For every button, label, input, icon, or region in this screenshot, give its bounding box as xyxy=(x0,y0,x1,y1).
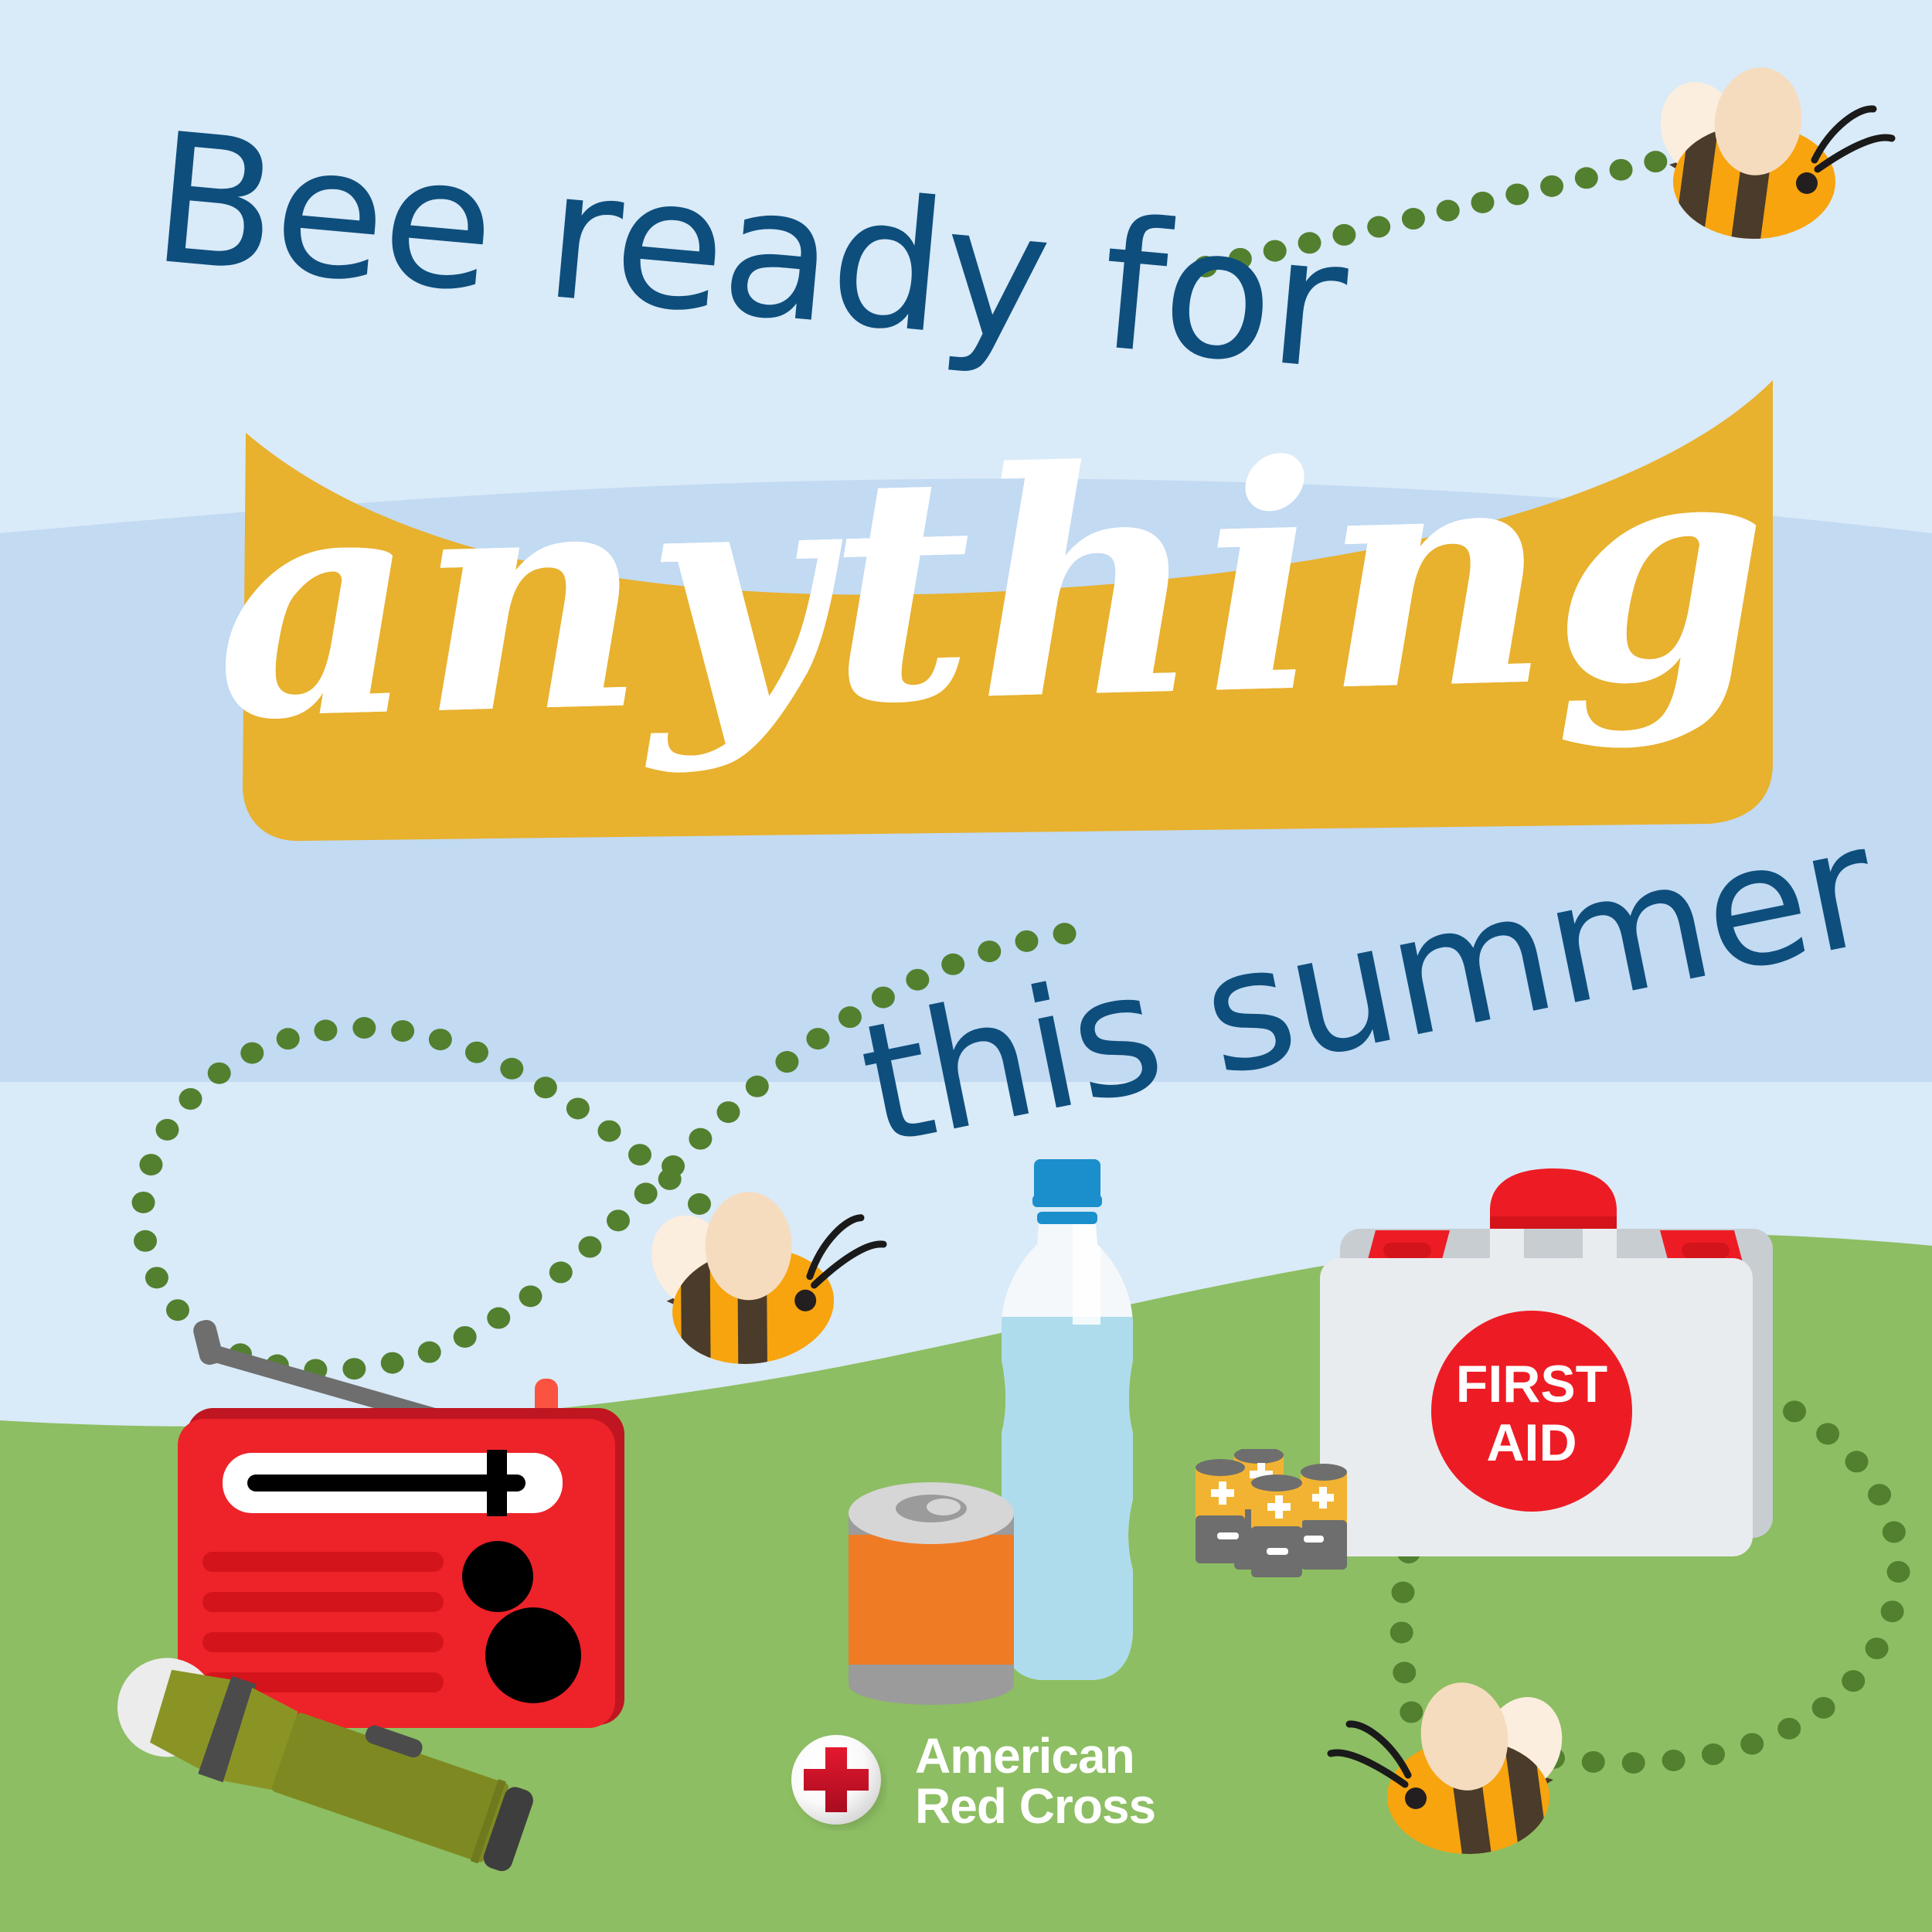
trail-dot xyxy=(607,1209,630,1231)
poster-canvas: Bee ready for anything this summer xyxy=(0,0,1932,1932)
trail-dot xyxy=(277,1028,300,1049)
trail-dot xyxy=(1702,1743,1725,1765)
red-cross-emblem xyxy=(788,1732,887,1831)
trail-dot xyxy=(597,1121,621,1142)
trail-dot xyxy=(1437,200,1460,222)
bottle-cap xyxy=(1032,1159,1102,1224)
trail-dot xyxy=(1777,1718,1801,1740)
bee-top-right xyxy=(1654,35,1917,267)
trail-dot xyxy=(1053,923,1077,944)
trail-dot xyxy=(806,1028,829,1049)
logo-line-2: Red Cross xyxy=(915,1781,1155,1832)
trail-dot xyxy=(429,1029,452,1050)
trail-dot xyxy=(1868,1484,1891,1505)
logo-wordmark: American Red Cross xyxy=(915,1731,1155,1832)
trail-dot xyxy=(1540,175,1563,197)
battery-front xyxy=(1251,1475,1302,1577)
bottle-highlight xyxy=(1073,1224,1100,1325)
trail-dot xyxy=(1622,1752,1645,1774)
trail-dot xyxy=(775,1051,798,1073)
trail-dot xyxy=(155,1119,179,1141)
flashlight xyxy=(93,1650,587,1905)
trail-dot xyxy=(1842,1670,1865,1692)
trail-dot xyxy=(1812,1697,1835,1719)
trail-dot xyxy=(240,1043,264,1064)
trail-dot xyxy=(1367,216,1390,238)
bee-wing-front xyxy=(706,1192,792,1300)
trail-dot xyxy=(132,1192,155,1213)
trail-dot xyxy=(534,1077,557,1098)
bee-eye xyxy=(1796,172,1818,194)
trail-dot xyxy=(628,1144,651,1165)
trail-dot xyxy=(1883,1521,1906,1543)
trail-dot xyxy=(1881,1600,1904,1622)
bee-middle xyxy=(649,1155,912,1387)
logo-line-1: American xyxy=(915,1731,1155,1781)
radio-knob-small xyxy=(462,1541,533,1612)
batteries xyxy=(1186,1449,1395,1650)
trail-dot xyxy=(139,1154,162,1175)
trail-dot xyxy=(1845,1451,1869,1472)
battery-left xyxy=(1196,1459,1245,1563)
trail-dot xyxy=(1015,930,1039,952)
bee-bottom-right xyxy=(1306,1650,1569,1882)
kit-latch-left-clip xyxy=(1383,1243,1431,1258)
trail-dot xyxy=(689,1128,712,1150)
trail-dot xyxy=(978,940,1001,962)
trail-dot xyxy=(134,1230,157,1252)
trail-dot xyxy=(519,1285,543,1307)
trail-dot xyxy=(1887,1561,1910,1583)
trail-dot xyxy=(1575,167,1598,189)
trail-dot xyxy=(1610,159,1633,181)
can-base xyxy=(849,1665,1014,1705)
trail-dot xyxy=(566,1097,590,1119)
trail-dot xyxy=(1505,183,1529,205)
trail-dot xyxy=(1471,192,1495,213)
trail-dot xyxy=(1402,208,1425,230)
trail-dot xyxy=(391,1020,414,1042)
trail-dot xyxy=(1816,1423,1839,1444)
trail-dot xyxy=(1582,1751,1605,1773)
highlight-banner: anything xyxy=(193,340,1793,842)
trail-dot xyxy=(746,1076,769,1097)
can-pulltab-hole xyxy=(927,1498,961,1515)
trail-dot xyxy=(145,1267,168,1288)
kit-badge-line-2: AID xyxy=(1486,1413,1577,1472)
trail-dot xyxy=(465,1042,488,1063)
trail-dot xyxy=(179,1088,202,1110)
battery-right xyxy=(1301,1464,1347,1570)
kit-badge-line-1: FIRST xyxy=(1456,1355,1607,1413)
trail-dot xyxy=(716,1101,740,1123)
banner-word: anything xyxy=(187,319,1799,863)
can-label xyxy=(849,1535,1014,1665)
trail-dot xyxy=(549,1261,573,1283)
trail-dot xyxy=(1662,1750,1685,1771)
trail-dot xyxy=(314,1019,337,1041)
kit-latch-right-clip xyxy=(1682,1243,1730,1258)
bee-antennae xyxy=(1331,1724,1408,1784)
trail-dot xyxy=(1740,1733,1764,1755)
radio-tuning-scale xyxy=(247,1475,526,1492)
trail-dot xyxy=(500,1058,523,1080)
bee-eye xyxy=(1405,1787,1427,1809)
trail-dot xyxy=(208,1063,231,1084)
trail-dot xyxy=(578,1236,601,1258)
canned-food xyxy=(835,1461,1028,1723)
radio-tuning-needle xyxy=(487,1450,507,1516)
bee-antennae xyxy=(1815,109,1892,169)
american-red-cross-logo: American Red Cross xyxy=(788,1731,1155,1832)
trail-dot xyxy=(352,1017,376,1039)
trail-dot xyxy=(1866,1638,1889,1659)
